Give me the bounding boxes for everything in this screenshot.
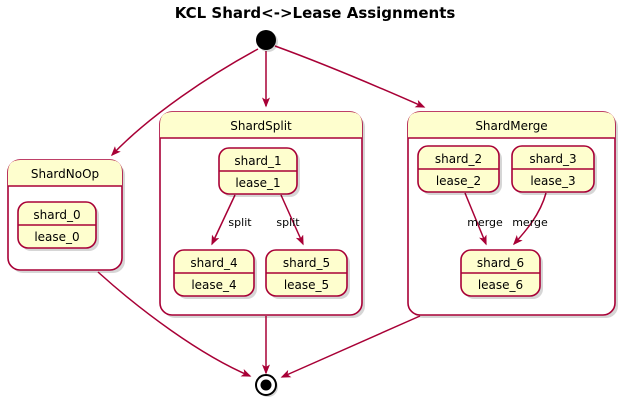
composite-state-label: ShardSplit xyxy=(230,119,292,133)
transition-start-to-shardmerge[interactable] xyxy=(275,46,424,107)
state-shard_1[interactable]: shard_1lease_1 xyxy=(219,148,300,197)
transition-arrow[interactable] xyxy=(282,316,420,377)
shard-name-label: shard_0 xyxy=(33,208,80,222)
transition-arrow[interactable] xyxy=(275,46,424,107)
shard-name-label: shard_5 xyxy=(283,256,330,270)
lease-name-label: lease_3 xyxy=(530,174,575,188)
state-shard_4[interactable]: shard_4lease_4 xyxy=(174,250,257,299)
state-shard_5[interactable]: shard_5lease_5 xyxy=(266,250,350,299)
final-state-node[interactable] xyxy=(256,375,278,397)
transition-shardmerge-to-end[interactable] xyxy=(282,316,420,377)
shard-name-label: shard_4 xyxy=(190,256,237,270)
lease-name-label: lease_6 xyxy=(478,278,523,292)
initial-state-node[interactable] xyxy=(256,30,278,52)
lease-name-label: lease_1 xyxy=(235,176,280,190)
transition-label: split xyxy=(228,216,252,229)
shard-name-label: shard_3 xyxy=(529,152,576,166)
state-shard_3[interactable]: shard_3lease_3 xyxy=(512,146,597,195)
state-diagram-canvas: KCL Shard<->Lease Assignments ShardNoOpS… xyxy=(0,0,630,405)
shard-name-label: shard_2 xyxy=(435,152,482,166)
start-circle-icon[interactable] xyxy=(256,30,276,50)
page-title: KCL Shard<->Lease Assignments xyxy=(175,4,456,22)
lease-name-label: lease_4 xyxy=(191,278,236,292)
shard-name-label: shard_6 xyxy=(477,256,524,270)
transition-label: split xyxy=(276,216,300,229)
state-shard_0[interactable]: shard_0lease_0 xyxy=(18,202,99,251)
lease-name-label: lease_2 xyxy=(436,174,481,188)
lease-name-label: lease_0 xyxy=(34,230,79,244)
composite-state-label: ShardMerge xyxy=(475,119,547,133)
state-shard_2[interactable]: shard_2lease_2 xyxy=(418,146,502,195)
state-shard_6[interactable]: shard_6lease_6 xyxy=(461,250,543,299)
lease-name-label: lease_5 xyxy=(284,278,329,292)
transition-label: merge xyxy=(512,216,548,229)
composite-state-label: ShardNoOp xyxy=(31,167,99,181)
transition-label: merge xyxy=(467,216,503,229)
end-inner-dot-icon[interactable] xyxy=(261,380,272,391)
shard-name-label: shard_1 xyxy=(234,154,281,168)
